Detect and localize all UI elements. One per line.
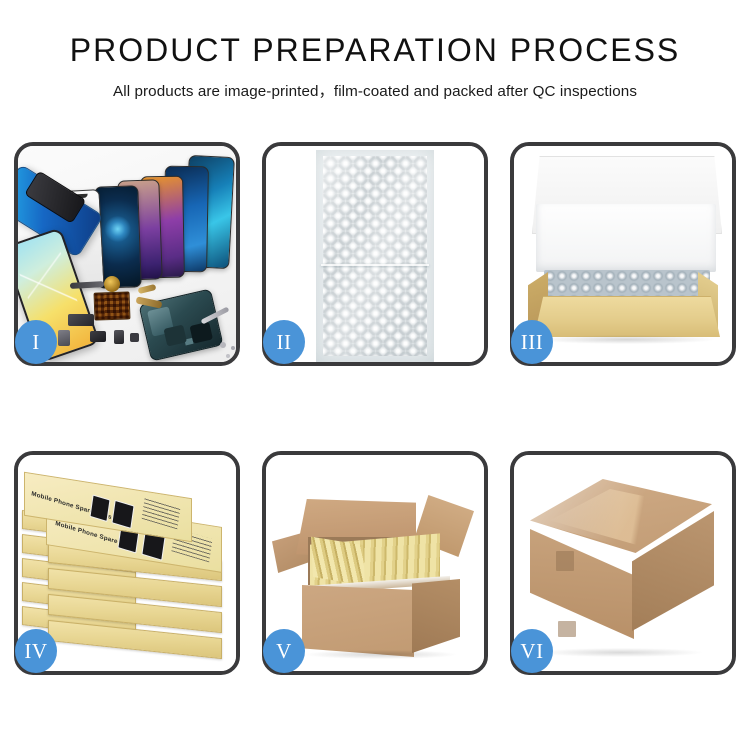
step-panel-2: II: [262, 142, 488, 366]
chip-board-icon: [94, 291, 131, 320]
page-header: PRODUCT PREPARATION PROCESS All products…: [0, 0, 750, 101]
sensor-part-icon: [130, 333, 139, 342]
connector-part-icon: [68, 314, 94, 326]
button-part-icon: [114, 330, 124, 344]
bubble-wrap-seam-icon: [321, 264, 429, 266]
bubble-wrapped-item-icon: [544, 270, 710, 300]
step-panel-4: Mobile Phone Spare Parts Mobile Phone Sp…: [14, 451, 240, 675]
carton-shadow: [306, 650, 456, 659]
mailer-box-shadow: [538, 335, 714, 344]
small-flex-part-icon: [138, 284, 157, 294]
camera-module-icon: [104, 276, 120, 292]
step-badge-5: V: [263, 629, 305, 673]
step-badge-4: IV: [15, 629, 57, 673]
step-panel-5: V: [262, 451, 488, 675]
mailer-box-front-icon: [534, 296, 720, 337]
packed-inner-boxes-side-icon: [311, 537, 365, 586]
box-spec-lines: [142, 497, 181, 529]
step-badge-3: III: [511, 320, 553, 364]
step-panel-6: VI: [510, 451, 736, 675]
speaker-part-icon: [90, 331, 106, 342]
step-badge-2: II: [263, 320, 305, 364]
sim-tray-icon: [58, 330, 70, 346]
carton-seam-tab-icon: [558, 621, 576, 637]
process-steps-grid: I II III: [14, 142, 736, 675]
page-title: PRODUCT PREPARATION PROCESS: [0, 34, 750, 68]
sealed-carton-shadow: [540, 648, 702, 657]
screws-icon: [220, 342, 226, 348]
step-panel-1: I: [14, 142, 240, 366]
carton-seam-tab-icon: [556, 551, 574, 571]
box-screen-graphic: [111, 500, 134, 529]
bubble-wrap-gloss-icon: [323, 156, 427, 356]
step-badge-1: I: [15, 320, 57, 364]
carton-side-icon: [412, 579, 460, 653]
step-panel-3: III: [510, 142, 736, 366]
box-screen-graphic: [89, 494, 110, 522]
step-badge-6: VI: [511, 629, 553, 673]
page-subtitle: All products are image-printed，film-coat…: [0, 79, 750, 101]
carton-front-icon: [302, 585, 414, 657]
flex-cable-part-icon: [70, 281, 104, 289]
foam-liner-icon: [536, 204, 716, 272]
